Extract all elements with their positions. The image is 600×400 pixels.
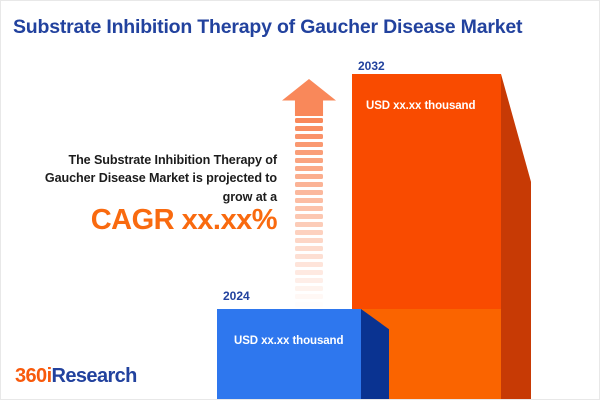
brand-logo: 360iResearch xyxy=(15,365,137,388)
arrow-shaft-segment xyxy=(295,158,323,163)
bar-year-label-2032: 2032 xyxy=(358,59,385,73)
bar-year-label-2024: 2024 xyxy=(223,289,250,303)
arrow-shaft-segment xyxy=(295,166,323,171)
arrow-shaft-segment xyxy=(295,126,323,131)
brand-logo-prefix: 360i xyxy=(15,365,52,387)
bar-2032-side-face xyxy=(501,74,531,400)
arrow-shaft-segment xyxy=(295,190,323,195)
growth-arrow xyxy=(282,79,336,291)
arrow-shaft-segment xyxy=(295,230,323,235)
bar-2024-front-face xyxy=(217,309,361,400)
arrow-shaft-segment xyxy=(295,182,323,187)
arrow-shaft-segment xyxy=(295,238,323,243)
arrow-shaft-segment xyxy=(295,262,323,267)
brand-logo-suffix: Research xyxy=(52,365,137,387)
arrow-shaft-segment xyxy=(295,142,323,147)
arrow-shaft-segment xyxy=(295,174,323,179)
arrow-shaft-segment xyxy=(295,198,323,203)
arrow-shaft-segment xyxy=(295,246,323,251)
arrow-shaft-segment xyxy=(295,206,323,211)
arrow-shaft-segment xyxy=(295,294,323,299)
arrow-shaft-segment xyxy=(295,254,323,259)
bar-value-label-2024: USD xx.xx thousand xyxy=(234,335,343,347)
cagr-value: CAGR xx.xx% xyxy=(15,204,277,237)
arrow-shaft-segment xyxy=(295,278,323,283)
arrow-shaft-segment xyxy=(295,214,323,219)
arrow-shaft-segments xyxy=(295,118,323,291)
page-title: Substrate Inhibition Therapy of Gaucher … xyxy=(13,17,589,38)
arrow-up-icon xyxy=(282,79,336,116)
arrow-shaft-segment xyxy=(295,302,323,307)
arrow-shaft-segment xyxy=(295,150,323,155)
bar-2024-side-face xyxy=(361,309,389,400)
bar-value-label-2032: USD xx.xx thousand xyxy=(366,100,475,112)
arrow-shaft-segment xyxy=(295,118,323,123)
arrow-shaft-segment xyxy=(295,222,323,227)
arrow-shaft-segment xyxy=(295,134,323,139)
infographic-canvas: Substrate Inhibition Therapy of Gaucher … xyxy=(0,0,600,400)
bar-2024: USD xx.xx thousand xyxy=(217,309,389,400)
arrow-shaft-segment xyxy=(295,270,323,275)
growth-statement-text: The Substrate Inhibition Therapy of Gauc… xyxy=(15,151,277,206)
arrow-shaft-segment xyxy=(295,286,323,291)
